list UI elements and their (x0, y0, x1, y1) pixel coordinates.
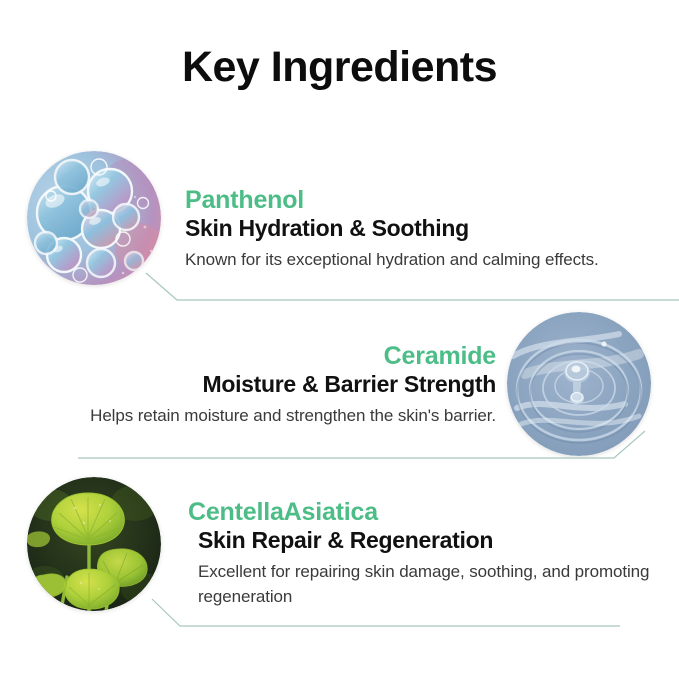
ingredient-benefit-centella-asiatica: Skin Repair & Regeneration (198, 527, 658, 553)
ingredient-name-centella-asiatica: CentellaAsiatica (188, 498, 658, 526)
ingredient-description-ceramide: Helps retain moisture and strengthen the… (40, 404, 496, 428)
ingredient-name-ceramide: Ceramide (40, 342, 496, 370)
ingredient-description-centella-asiatica: Excellent for repairing skin damage, soo… (198, 560, 658, 608)
ingredient-benefit-ceramide: Moisture & Barrier Strength (40, 371, 496, 397)
page-title: Key Ingredients (0, 44, 679, 91)
ingredient-block-panthenol: Panthenol Skin Hydration & Soothing Know… (185, 186, 655, 273)
key-ingredients-infographic: Key Ingredients (0, 0, 679, 679)
ingredient-block-centella-asiatica: CentellaAsiatica Skin Repair & Regenerat… (188, 498, 658, 609)
ingredient-name-panthenol: Panthenol (185, 186, 655, 214)
centella-leaves-photo (27, 477, 161, 611)
ingredient-block-ceramide: Ceramide Moisture & Barrier Strength Hel… (40, 342, 496, 429)
ingredient-benefit-panthenol: Skin Hydration & Soothing (185, 215, 655, 241)
water-droplet-ripple-photo (507, 312, 651, 456)
ingredient-description-panthenol: Known for its exceptional hydration and … (185, 248, 655, 272)
bubbles-photo (27, 151, 161, 285)
